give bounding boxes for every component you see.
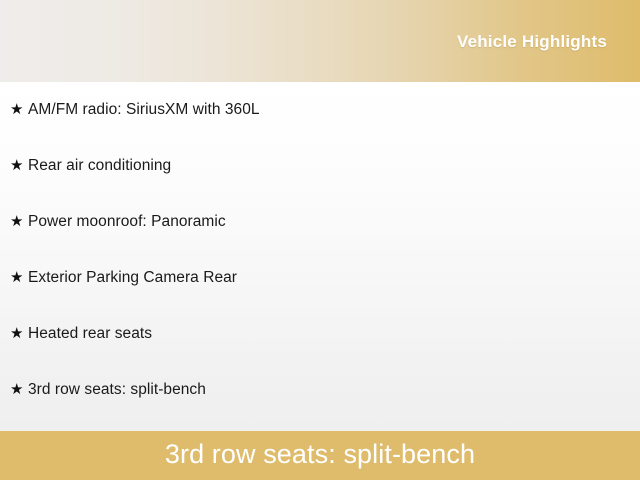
star-icon: ★ xyxy=(10,158,28,173)
star-icon: ★ xyxy=(10,326,28,341)
list-item: ★ Rear air conditioning xyxy=(0,138,640,194)
vehicle-highlights-slide: Vehicle Highlights ★ AM/FM radio: Sirius… xyxy=(0,0,640,480)
feature-label: 3rd row seats: split-bench xyxy=(28,381,206,399)
page-title: Vehicle Highlights xyxy=(457,30,640,52)
star-icon: ★ xyxy=(10,270,28,285)
list-item: ★ Exterior Parking Camera Rear xyxy=(0,250,640,306)
list-item: ★ AM/FM radio: SiriusXM with 360L xyxy=(0,82,640,138)
star-icon: ★ xyxy=(10,382,28,397)
feature-label: Power moonroof: Panoramic xyxy=(28,213,226,231)
features-panel: ★ AM/FM radio: SiriusXM with 360L ★ Rear… xyxy=(0,82,640,431)
feature-label: Rear air conditioning xyxy=(28,157,171,175)
header-band: Vehicle Highlights xyxy=(0,0,640,82)
feature-label: Heated rear seats xyxy=(28,325,152,343)
star-icon: ★ xyxy=(10,102,28,117)
list-item: ★ Power moonroof: Panoramic xyxy=(0,194,640,250)
caption-label: 3rd row seats: split-bench xyxy=(165,439,475,472)
caption-banner: 3rd row seats: split-bench xyxy=(0,431,640,480)
feature-label: AM/FM radio: SiriusXM with 360L xyxy=(28,101,260,119)
feature-label: Exterior Parking Camera Rear xyxy=(28,269,237,287)
list-item: ★ 3rd row seats: split-bench xyxy=(0,362,640,418)
list-item: ★ Heated rear seats xyxy=(0,306,640,362)
star-icon: ★ xyxy=(10,214,28,229)
feature-list: ★ AM/FM radio: SiriusXM with 360L ★ Rear… xyxy=(0,82,640,418)
